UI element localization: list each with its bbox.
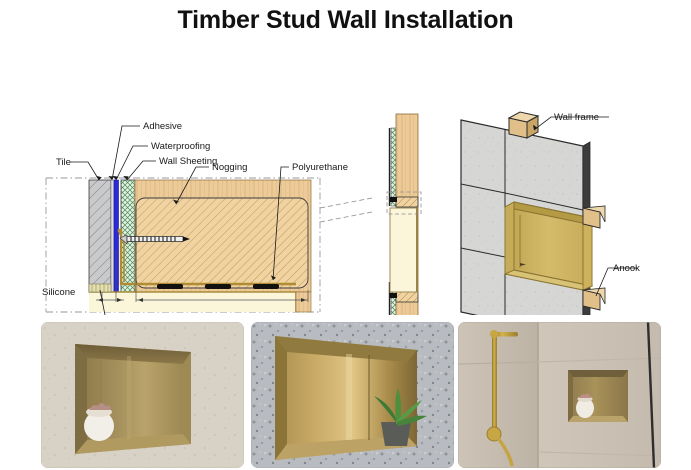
photo-2-graphic — [251, 322, 454, 468]
label-wall-frame: Wall frame — [554, 112, 599, 123]
photo-3-niche-top — [568, 370, 628, 377]
photo-3-niche — [568, 370, 628, 422]
label-waterproofing: Waterproofing — [151, 141, 210, 152]
timber-bottom-plate — [296, 292, 311, 312]
photo-3-niche-left — [568, 370, 573, 422]
section-packer-bottom — [390, 293, 397, 298]
label-polyurethane: Polyurethane — [292, 162, 348, 173]
section-niche-cavity — [390, 208, 418, 292]
photo-1-niche-left — [75, 344, 87, 454]
photo-3-shower-elbow — [490, 330, 498, 338]
detail-callout-link — [320, 198, 372, 222]
isometric-drawing: Wall frame Anook — [461, 112, 640, 315]
cross-section-drawing: Tile Adhesive Waterproofing Wall Sheetin… — [42, 121, 372, 315]
label-anook: Anook — [613, 263, 640, 274]
label-wall-sheeting: Wall Sheeting — [159, 156, 217, 167]
adhesive-layer — [111, 180, 114, 292]
photo-3-niche-shelf — [568, 416, 628, 422]
label-silicone: Silicone — [42, 287, 75, 298]
diagram-area: Tile Adhesive Waterproofing Wall Sheetin… — [0, 50, 691, 315]
packer-blocks — [157, 284, 279, 289]
section-nogging-top — [396, 197, 418, 207]
photo-strip — [0, 318, 691, 470]
section-sheeting-upper — [391, 128, 396, 206]
photo-2-pot — [381, 422, 411, 446]
photo-3-wall-left — [458, 322, 538, 468]
page-root: Timber Stud Wall Installation — [0, 0, 691, 470]
polyurethane-layer — [89, 292, 311, 312]
technical-drawings: Tile Adhesive Waterproofing Wall Sheetin… — [0, 50, 691, 315]
page-title: Timber Stud Wall Installation — [0, 6, 691, 35]
iso-niche-right-face — [583, 218, 592, 290]
label-tile: Tile — [56, 157, 71, 168]
vertical-section-drawing — [387, 114, 421, 315]
photo-brass-niche-marble[interactable] — [41, 322, 244, 468]
iso-niche-left-return — [505, 202, 514, 274]
wall-sheeting-layer — [121, 180, 135, 292]
photo-3-graphic — [458, 322, 661, 468]
label-nogging: Nogging — [212, 162, 247, 173]
photo-brass-niche-terrazzo[interactable] — [251, 322, 454, 468]
nogging-member — [136, 198, 308, 288]
label-adhesive: Adhesive — [143, 121, 182, 132]
photo-shower-niche[interactable] — [458, 322, 661, 468]
photo-1-niche-right — [183, 352, 191, 444]
photo-1-graphic — [41, 322, 244, 468]
section-packer-top — [390, 197, 397, 202]
photo-3-shower-rail — [492, 336, 497, 440]
tile-layer — [89, 180, 111, 292]
photo-2-niche-left — [275, 336, 287, 460]
section-nogging-bottom — [396, 292, 418, 302]
